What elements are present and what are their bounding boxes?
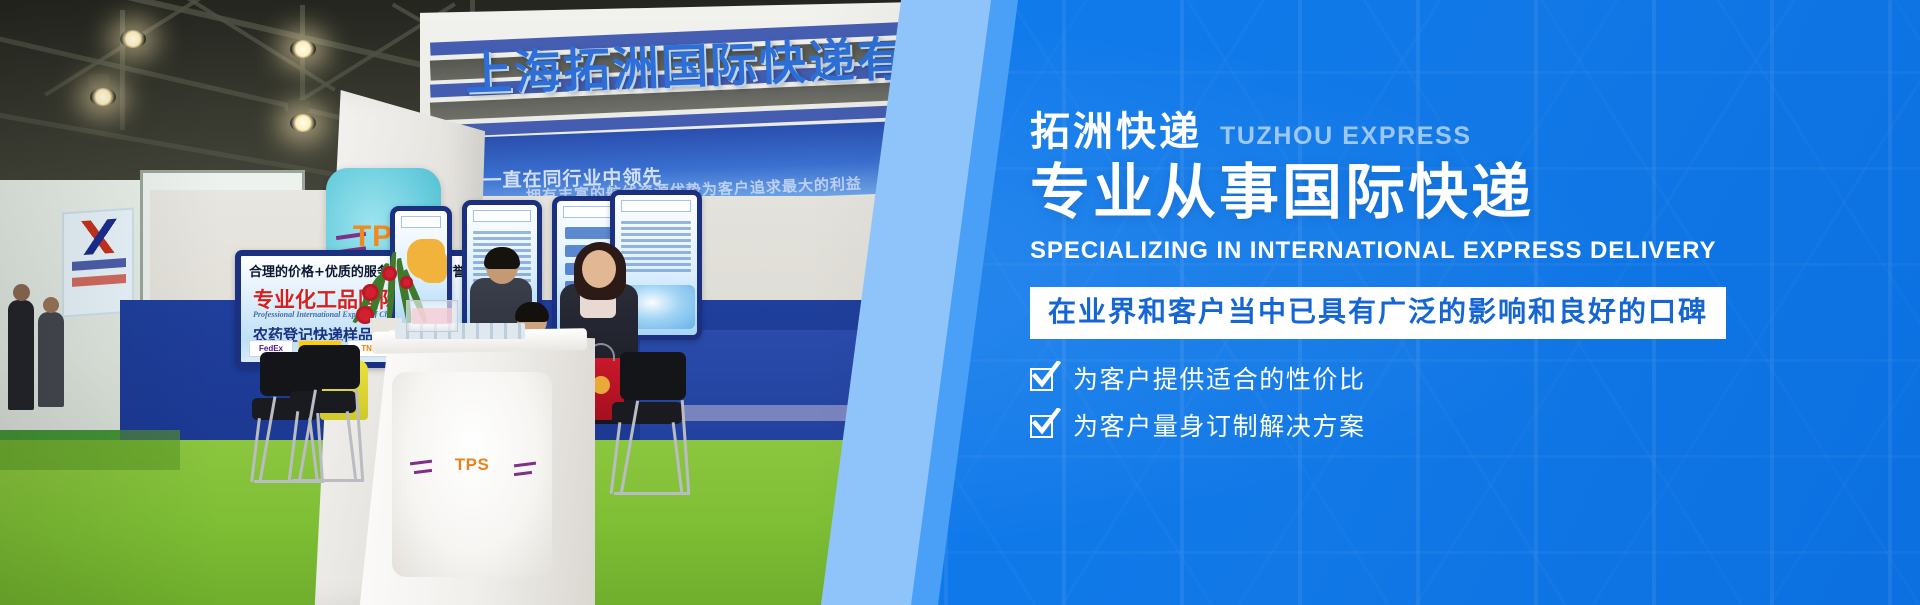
hero-banner: 上海拓洲国际快递有限公司 服务一直在同行业中领先 拥有丰富的航线资源优势为客户追… [0, 0, 1920, 605]
display-slip [412, 308, 452, 324]
list-item: 为客户提供适合的性价比 [1030, 367, 1890, 392]
info-board-header [563, 206, 613, 218]
banner-content: 拓洲快递 TUZHOU EXPRESS 专业从事国际快递 SPECIALIZIN… [1030, 112, 1890, 461]
neighbor-sign-text [72, 274, 126, 287]
figure-hair [515, 302, 549, 322]
highlight-ribbon: 在业界和客户当中已具有广泛的影响和良好的口碑 [1030, 287, 1726, 339]
brand-name-cn: 拓洲快递 [1030, 112, 1202, 152]
bullet-label: 为客户量身订制解决方案 [1073, 414, 1366, 439]
desk-tps-logo: TPS [430, 455, 514, 475]
info-board-header [401, 216, 441, 228]
ceiling-truss [120, 10, 125, 130]
company-profile-title [621, 200, 691, 212]
brand-name-en: TUZHOU EXPRESS [1220, 124, 1472, 152]
visitor-figure [8, 300, 34, 410]
chair-rail [614, 492, 690, 495]
ceiling-light [290, 114, 316, 132]
flower-bloom [382, 266, 397, 281]
flower-bloom [400, 276, 413, 289]
visitor-figure [38, 312, 64, 407]
bullet-label: 为客户提供适合的性价比 [1073, 367, 1366, 392]
desk-tps-logo-text: TPS [455, 455, 490, 474]
flower-bloom [362, 284, 379, 301]
chair-seat [290, 391, 356, 413]
headline-cn: 专业从事国际快递 [1030, 160, 1890, 227]
chair-back [298, 345, 360, 389]
brand-line: 拓洲快递 TUZHOU EXPRESS [1030, 112, 1890, 152]
figure-face [584, 252, 614, 278]
chair-rail [292, 479, 364, 482]
acrylic-display-stand [406, 300, 458, 332]
ceiling-light [90, 88, 116, 106]
checkbox-checked-icon [1030, 368, 1053, 391]
neighbor-logo-icon [74, 218, 124, 255]
list-item: 为客户量身订制解决方案 [1030, 414, 1890, 439]
checkbox-checked-icon [1030, 415, 1053, 438]
china-map-icon [407, 239, 445, 279]
figure-hair [484, 247, 520, 269]
feature-bullet-list: 为客户提供适合的性价比 为客户量身订制解决方案 [1030, 367, 1890, 439]
subheadline-en: SPECIALIZING IN INTERNATIONAL EXPRESS DE… [1030, 237, 1890, 265]
ceiling-light [290, 40, 316, 58]
neighbor-sign-text [72, 258, 126, 271]
chair-back [620, 352, 686, 400]
ceiling-light [120, 30, 146, 48]
info-board-header [473, 210, 531, 222]
green-carpet-shadow [0, 430, 180, 470]
chair-seat [612, 402, 682, 424]
